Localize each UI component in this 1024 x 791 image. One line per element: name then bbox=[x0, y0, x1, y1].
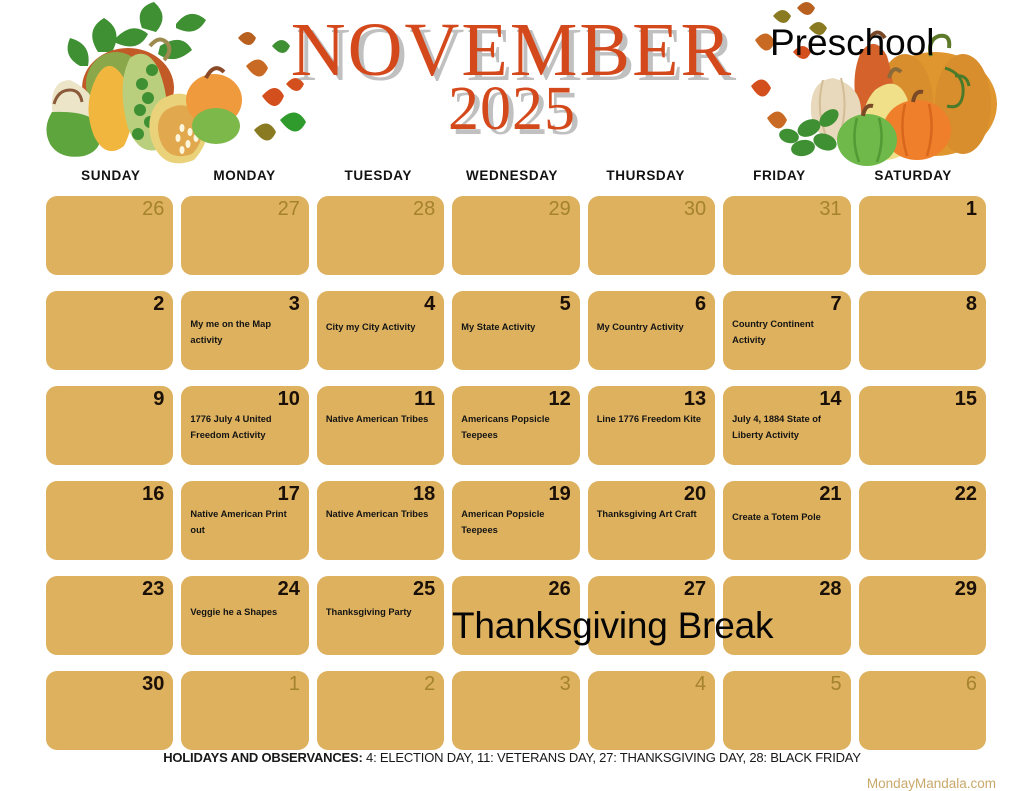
day-number: 28 bbox=[819, 578, 841, 601]
day-event-text: Thanksgiving Party bbox=[326, 605, 435, 621]
day-number: 11 bbox=[414, 388, 435, 411]
day-cell[interactable]: 9 bbox=[46, 386, 173, 465]
day-cell[interactable]: 30 bbox=[46, 671, 173, 750]
day-cell[interactable]: 18Native American Tribes bbox=[317, 481, 444, 560]
weekday-header-row: SUNDAY MONDAY TUESDAY WEDNESDAY THURSDAY… bbox=[0, 168, 1024, 194]
day-event-text: Country Continent Activity bbox=[732, 317, 841, 349]
day-cell[interactable]: 24Veggie he a Shapes bbox=[181, 576, 308, 655]
day-number: 7 bbox=[830, 293, 841, 316]
weekday-saturday: SATURDAY bbox=[846, 168, 980, 194]
day-cell[interactable]: 1 bbox=[859, 196, 986, 275]
day-cell[interactable]: 30 bbox=[588, 196, 715, 275]
day-cell[interactable]: 6My Country Activity bbox=[588, 291, 715, 370]
holidays-and-observances: HOLIDAYS AND OBSERVANCES: 4: ELECTION DA… bbox=[0, 750, 1024, 765]
day-cell[interactable]: 2 bbox=[317, 671, 444, 750]
day-number: 5 bbox=[830, 673, 841, 696]
subtitle-overlay: Preschool bbox=[770, 22, 935, 64]
holidays-label: HOLIDAYS AND OBSERVANCES: bbox=[163, 750, 362, 765]
day-number: 4 bbox=[695, 673, 706, 696]
day-event-text: My State Activity bbox=[461, 320, 570, 336]
day-cell[interactable]: 19American Popsicle Teepees bbox=[452, 481, 579, 560]
day-cell[interactable]: 20Thanksgiving Art Craft bbox=[588, 481, 715, 560]
day-event-text: Create a Totem Pole bbox=[732, 510, 841, 526]
day-number: 4 bbox=[424, 293, 435, 316]
day-cell[interactable]: 11Native American Tribes bbox=[317, 386, 444, 465]
day-cell[interactable]: 15 bbox=[859, 386, 986, 465]
day-number: 27 bbox=[278, 198, 300, 221]
day-number: 18 bbox=[413, 483, 435, 506]
day-cell[interactable]: 28 bbox=[317, 196, 444, 275]
day-cell[interactable]: 29 bbox=[452, 196, 579, 275]
day-cell[interactable]: 21Create a Totem Pole bbox=[723, 481, 850, 560]
day-cell[interactable]: 5 bbox=[723, 671, 850, 750]
day-number: 23 bbox=[142, 578, 164, 601]
calendar-grid: 262728293031123My me on the Map activity… bbox=[46, 196, 986, 750]
day-event-text: City my City Activity bbox=[326, 320, 435, 336]
day-cell[interactable]: 26 bbox=[46, 196, 173, 275]
day-cell[interactable]: 4 bbox=[588, 671, 715, 750]
day-number: 26 bbox=[142, 198, 164, 221]
day-number: 25 bbox=[413, 578, 435, 601]
day-event-text: American Popsicle Teepees bbox=[461, 507, 570, 539]
day-cell[interactable]: 7Country Continent Activity bbox=[723, 291, 850, 370]
day-number: 5 bbox=[560, 293, 571, 316]
day-event-text: Americans Popsicle Teepees bbox=[461, 412, 570, 444]
day-number: 24 bbox=[278, 578, 300, 601]
day-cell[interactable]: 4City my City Activity bbox=[317, 291, 444, 370]
day-number: 28 bbox=[413, 198, 435, 221]
weekday-wednesday: WEDNESDAY bbox=[445, 168, 579, 194]
day-cell[interactable]: 23 bbox=[46, 576, 173, 655]
day-number: 1 bbox=[289, 673, 300, 696]
calendar-header: NOVEMBER 2025 Preschool bbox=[0, 0, 1024, 172]
day-cell[interactable]: 13Line 1776 Freedom Kite bbox=[588, 386, 715, 465]
day-event-text: My Country Activity bbox=[597, 320, 706, 336]
day-number: 27 bbox=[684, 578, 706, 601]
thanksgiving-break-overlay: Thanksgiving Break bbox=[452, 605, 773, 647]
weekday-monday: MONDAY bbox=[178, 168, 312, 194]
day-event-text: July 4, 1884 State of Liberty Activity bbox=[732, 412, 841, 444]
weekday-thursday: THURSDAY bbox=[579, 168, 713, 194]
day-cell[interactable]: 27 bbox=[181, 196, 308, 275]
day-number: 1 bbox=[966, 198, 977, 221]
day-number: 6 bbox=[695, 293, 706, 316]
day-number: 2 bbox=[153, 293, 164, 316]
holidays-text: 4: ELECTION DAY, 11: VETERANS DAY, 27: T… bbox=[363, 750, 861, 765]
day-number: 29 bbox=[548, 198, 570, 221]
day-cell[interactable]: 12Americans Popsicle Teepees bbox=[452, 386, 579, 465]
day-event-text: Native American Tribes bbox=[326, 412, 435, 428]
day-cell[interactable]: 1 bbox=[181, 671, 308, 750]
day-event-text: Thanksgiving Art Craft bbox=[597, 507, 706, 523]
day-cell[interactable]: 5My State Activity bbox=[452, 291, 579, 370]
day-cell[interactable]: 29 bbox=[859, 576, 986, 655]
day-event-text: Veggie he a Shapes bbox=[190, 605, 299, 621]
day-cell[interactable]: 101776 July 4 United Freedom Activity bbox=[181, 386, 308, 465]
day-number: 10 bbox=[278, 388, 300, 411]
weekday-friday: FRIDAY bbox=[713, 168, 847, 194]
day-number: 15 bbox=[955, 388, 977, 411]
day-number: 14 bbox=[819, 388, 841, 411]
day-number: 29 bbox=[955, 578, 977, 601]
day-cell[interactable]: 6 bbox=[859, 671, 986, 750]
day-cell[interactable]: 14July 4, 1884 State of Liberty Activity bbox=[723, 386, 850, 465]
day-cell[interactable]: 8 bbox=[859, 291, 986, 370]
day-number: 3 bbox=[289, 293, 300, 316]
day-cell[interactable]: 16 bbox=[46, 481, 173, 560]
day-cell[interactable]: 22 bbox=[859, 481, 986, 560]
day-number: 17 bbox=[278, 483, 300, 506]
day-number: 22 bbox=[955, 483, 977, 506]
day-event-text: Native American Print out bbox=[190, 507, 299, 539]
day-number: 20 bbox=[684, 483, 706, 506]
day-event-text: My me on the Map activity bbox=[190, 317, 299, 349]
day-event-text: Line 1776 Freedom Kite bbox=[597, 412, 706, 428]
weekday-tuesday: TUESDAY bbox=[311, 168, 445, 194]
day-cell[interactable]: 17Native American Print out bbox=[181, 481, 308, 560]
day-number: 2 bbox=[424, 673, 435, 696]
day-number: 3 bbox=[560, 673, 571, 696]
day-number: 9 bbox=[153, 388, 164, 411]
day-number: 31 bbox=[819, 198, 841, 221]
day-number: 8 bbox=[966, 293, 977, 316]
day-number: 13 bbox=[684, 388, 706, 411]
day-number: 6 bbox=[966, 673, 977, 696]
day-number: 19 bbox=[548, 483, 570, 506]
day-number: 30 bbox=[684, 198, 706, 221]
day-cell[interactable]: 3 bbox=[452, 671, 579, 750]
day-cell[interactable]: 3My me on the Map activity bbox=[181, 291, 308, 370]
year-title: 2025 bbox=[0, 80, 1024, 139]
calendar-footer: HOLIDAYS AND OBSERVANCES: 4: ELECTION DA… bbox=[0, 750, 1024, 765]
day-event-text: 1776 July 4 United Freedom Activity bbox=[190, 412, 299, 444]
day-cell[interactable]: 31 bbox=[723, 196, 850, 275]
day-cell[interactable]: 2 bbox=[46, 291, 173, 370]
weekday-sunday: SUNDAY bbox=[44, 168, 178, 194]
day-cell[interactable]: 25Thanksgiving Party bbox=[317, 576, 444, 655]
site-credit: MondayMandala.com bbox=[867, 776, 996, 791]
day-number: 26 bbox=[548, 578, 570, 601]
day-event-text: Native American Tribes bbox=[326, 507, 435, 523]
day-number: 16 bbox=[142, 483, 164, 506]
day-number: 30 bbox=[142, 673, 164, 696]
day-number: 21 bbox=[819, 483, 841, 506]
autumn-gourds-illustration-left bbox=[10, 0, 310, 172]
day-number: 12 bbox=[548, 388, 570, 411]
